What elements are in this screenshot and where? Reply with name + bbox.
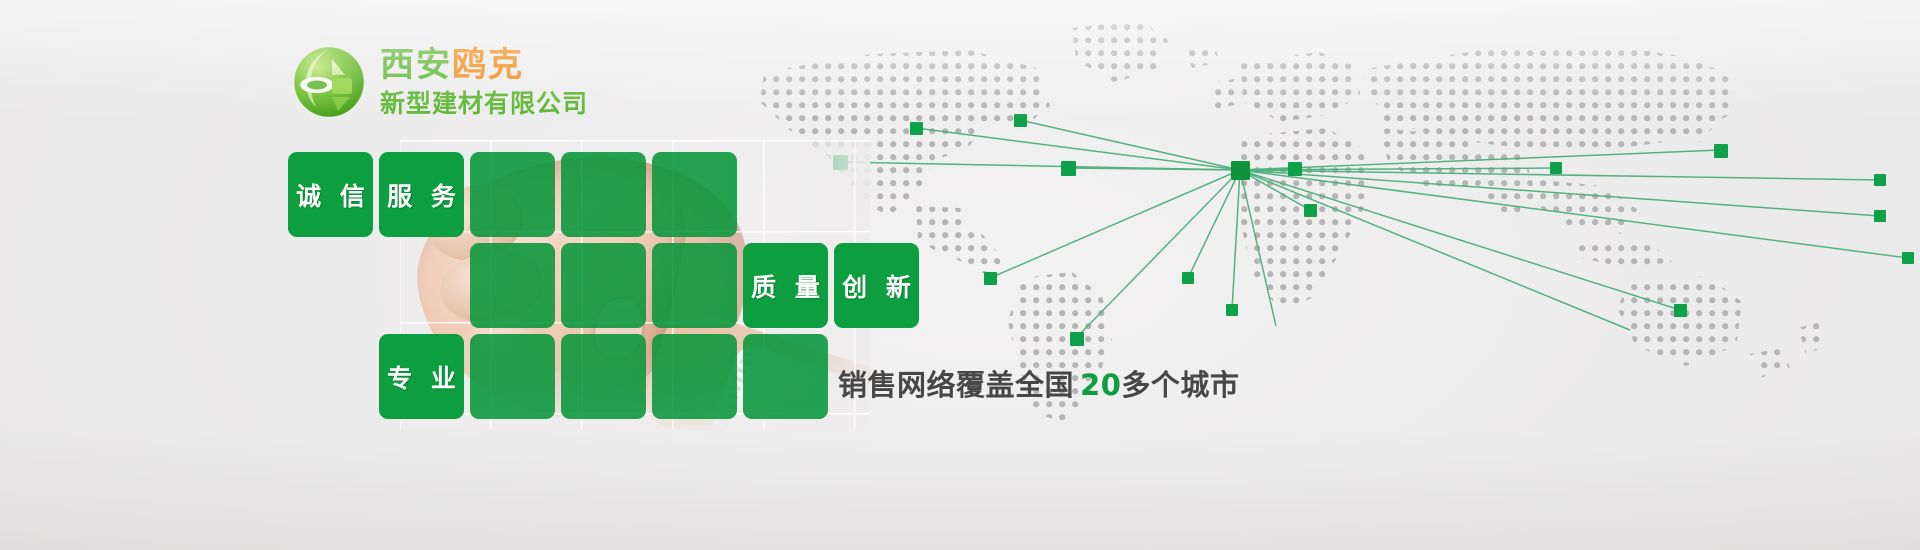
caption-tail: 多个城市 xyxy=(1121,368,1239,402)
tile-label: 服 务 xyxy=(382,177,461,213)
tile-quality[interactable]: 质 量 xyxy=(743,243,828,328)
tile-blank-r2c5 xyxy=(652,243,737,328)
tile-label: 专 业 xyxy=(382,359,461,395)
logo-line-1: 西安鸥克 xyxy=(380,48,588,82)
sales-network-caption: 销售网络覆盖全国20多个城市 xyxy=(838,362,1239,404)
caption-highlight: 20 xyxy=(1074,368,1121,402)
tile-service[interactable]: 服 务 xyxy=(379,152,464,237)
tile-blank-r1c3 xyxy=(470,152,555,237)
tile-label: 质 量 xyxy=(746,268,825,304)
tile-blank-r1c4 xyxy=(561,152,646,237)
tile-blank-r2c4 xyxy=(561,243,646,328)
tile-professional[interactable]: 专 业 xyxy=(379,334,464,419)
tile-innovation[interactable]: 创 新 xyxy=(834,243,919,328)
tile-integrity[interactable]: 诚 信 xyxy=(288,152,373,237)
promo-banner: 西安鸥克 新型建材有限公司 诚 信 服 务 xyxy=(0,0,1920,550)
company-logo[interactable]: 西安鸥克 新型建材有限公司 xyxy=(292,45,588,119)
tile-blank-r3c5 xyxy=(652,334,737,419)
logo-wordmark: 西安鸥克 新型建材有限公司 xyxy=(380,48,588,116)
logo-line-2: 新型建材有限公司 xyxy=(380,91,588,116)
tile-blank-r1c5 xyxy=(652,152,737,237)
tile-label: 创 新 xyxy=(837,268,916,304)
leaf-globe-logo-icon xyxy=(292,45,366,119)
tile-blank-r3c3 xyxy=(470,334,555,419)
tile-label: 诚 信 xyxy=(291,177,370,213)
logo-brand-text: 鸥克 xyxy=(452,45,524,85)
map-hub-marker xyxy=(1231,161,1250,180)
tile-blank-r3c6 xyxy=(743,334,828,419)
value-tile-mosaic: 诚 信 服 务 质 量 创 新 专 业 xyxy=(288,148,908,420)
tile-blank-r2c3 xyxy=(470,243,555,328)
logo-city-text: 西安 xyxy=(380,45,452,85)
tile-blank-r3c4 xyxy=(561,334,646,419)
caption-lead: 销售网络覆盖全国 xyxy=(838,368,1074,402)
